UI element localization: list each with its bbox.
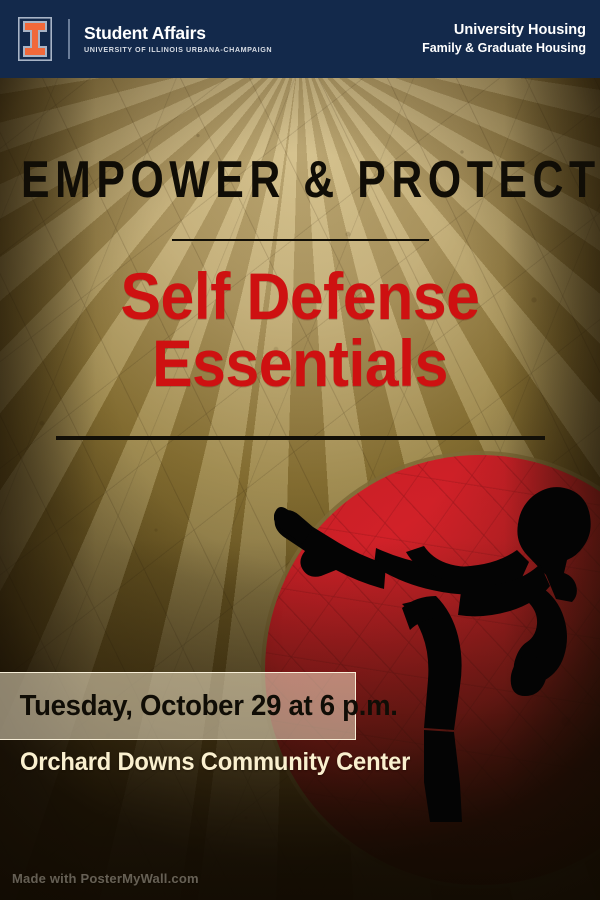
- event-venue-text: Orchard Downs Community Center: [20, 748, 410, 777]
- department-name: University Housing: [422, 21, 586, 41]
- department-subname: Family & Graduate Housing: [422, 40, 586, 57]
- headline-line-2: Essentials: [24, 332, 576, 395]
- brand-divider: [68, 19, 70, 59]
- brand-lockup: Student Affairs UNIVERSITY OF ILLINOIS U…: [18, 17, 272, 61]
- unit-subtitle: UNIVERSITY OF ILLINOIS URBANA-CHAMPAIGN: [84, 46, 272, 53]
- poster-canvas: Student Affairs UNIVERSITY OF ILLINOIS U…: [0, 0, 600, 900]
- event-date-text: Tuesday, October 29 at 6 p.m.: [0, 690, 398, 723]
- university-header-bar: Student Affairs UNIVERSITY OF ILLINOIS U…: [0, 0, 600, 78]
- unit-title: Student Affairs: [84, 25, 272, 43]
- brand-text-block: Student Affairs UNIVERSITY OF ILLINOIS U…: [84, 25, 272, 54]
- divider-top: [172, 239, 429, 241]
- poster-kicker: EMPOWER & PROTECT: [21, 153, 579, 205]
- postermywall-watermark: Made with PosterMyWall.com: [12, 871, 199, 886]
- department-block: University Housing Family & Graduate Hou…: [422, 21, 586, 57]
- divider-bottom: [56, 436, 545, 440]
- poster-headline: Self Defense Essentials: [24, 265, 576, 396]
- event-date-banner: Tuesday, October 29 at 6 p.m.: [0, 672, 356, 740]
- illinois-block-i-logo-icon: [18, 17, 52, 61]
- headline-line-1: Self Defense: [121, 259, 480, 333]
